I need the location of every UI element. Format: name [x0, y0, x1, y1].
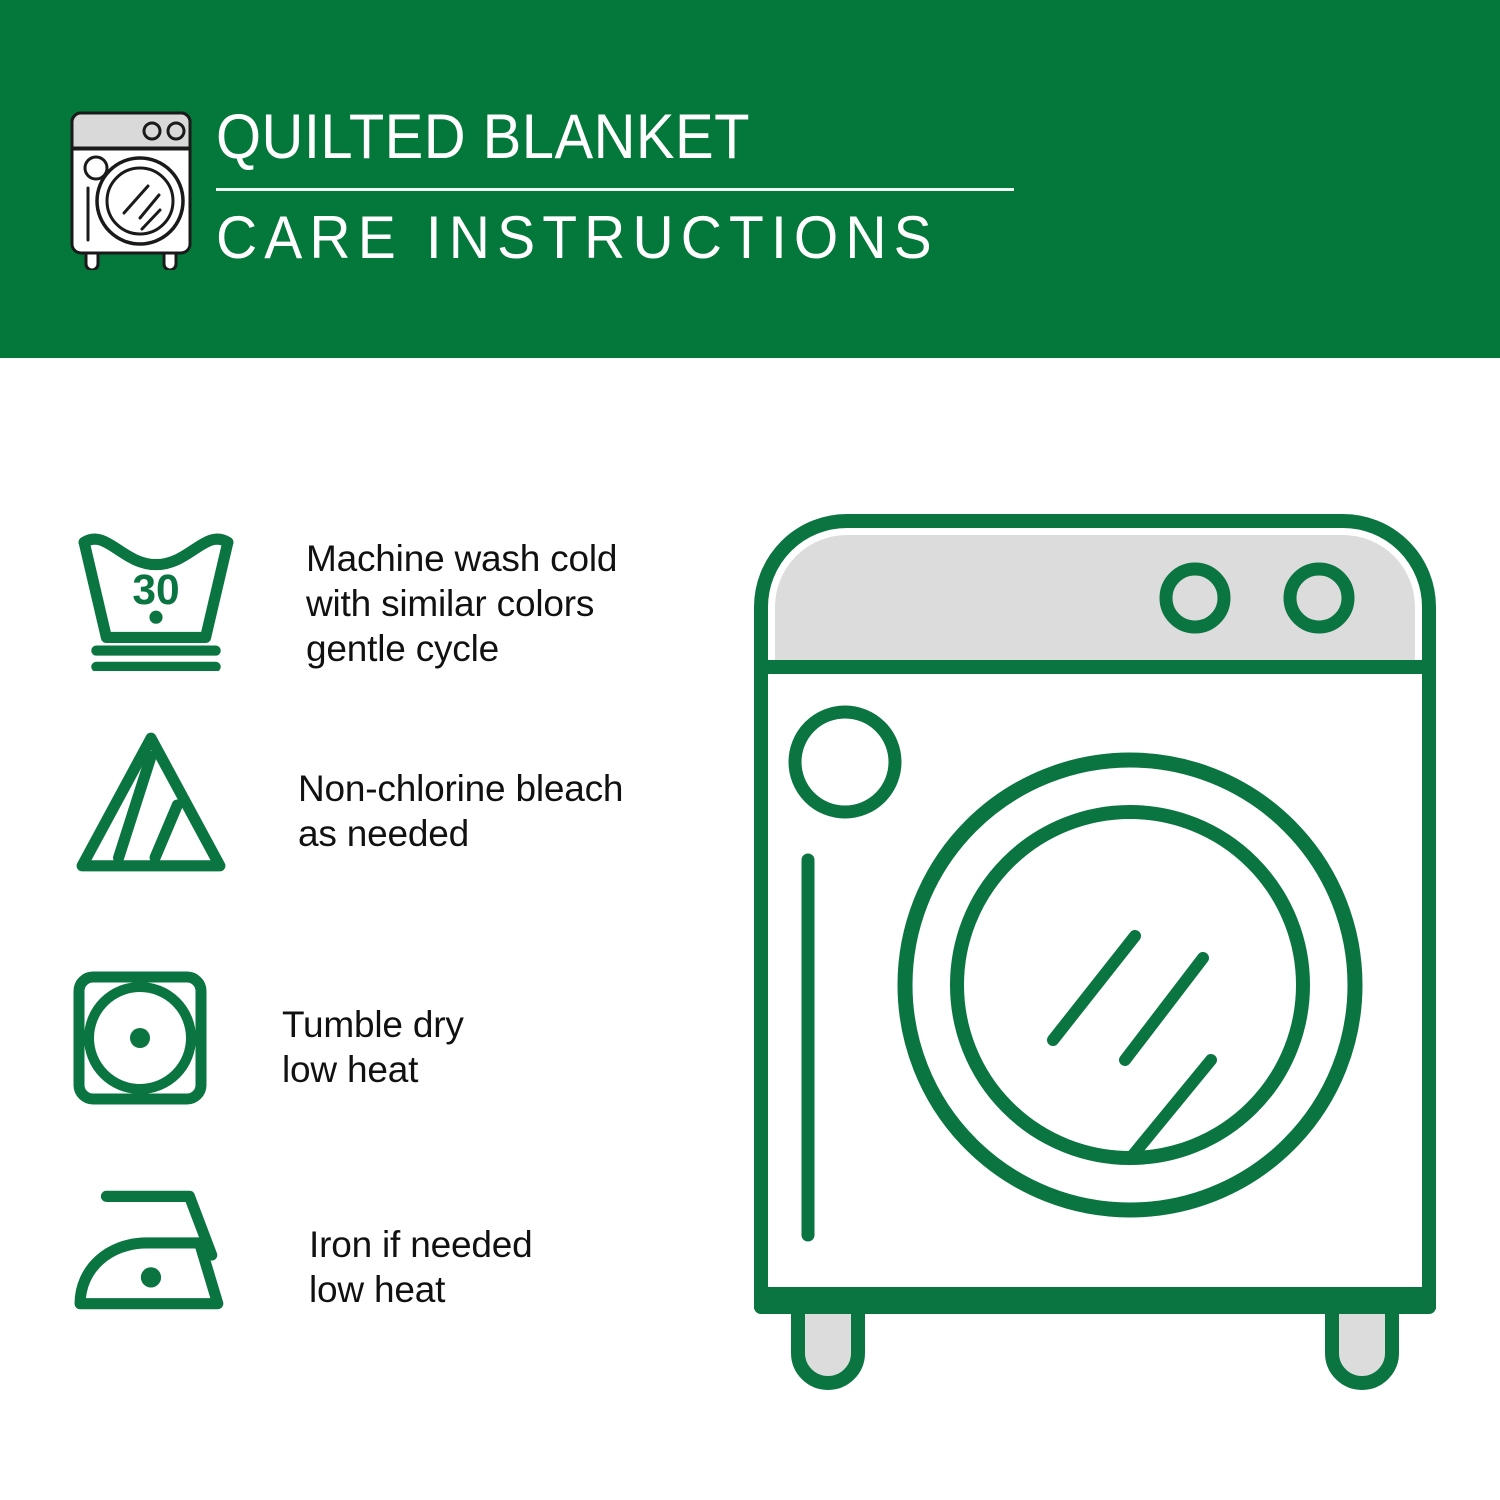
care-text-wash: Machine wash cold with similar colors ge… — [306, 536, 617, 671]
non-chlorine-bleach-triangle-icon — [70, 726, 232, 883]
care-instructions-page: QUILTED BLANKET CARE INSTRUCTIONS 30 — [0, 0, 1500, 1500]
control-panel — [775, 535, 1415, 665]
machine-foot — [1332, 1307, 1392, 1383]
machine-foot — [798, 1307, 858, 1383]
wash-tub-30-gentle-icon: 30 — [70, 524, 242, 676]
wash-temp-value: 30 — [132, 567, 179, 614]
care-text-tumble-dry: Tumble dry low heat — [282, 1002, 464, 1092]
care-instruction-list: 30 Machine wash cold with similar colors… — [0, 0, 740, 1500]
care-row-bleach: Non-chlorine bleach as needed — [70, 726, 623, 883]
care-row-iron: Iron if needed low heat — [70, 1180, 532, 1322]
care-row-tumble-dry: Tumble dry low heat — [70, 968, 464, 1113]
tumble-dry-low-heat-icon — [70, 968, 210, 1113]
iron-low-heat-icon — [70, 1180, 237, 1322]
washing-machine-illustration — [735, 495, 1455, 1415]
care-text-iron: Iron if needed low heat — [309, 1222, 532, 1312]
care-text-bleach: Non-chlorine bleach as needed — [298, 766, 623, 856]
care-row-wash: 30 Machine wash cold with similar colors… — [70, 524, 617, 676]
